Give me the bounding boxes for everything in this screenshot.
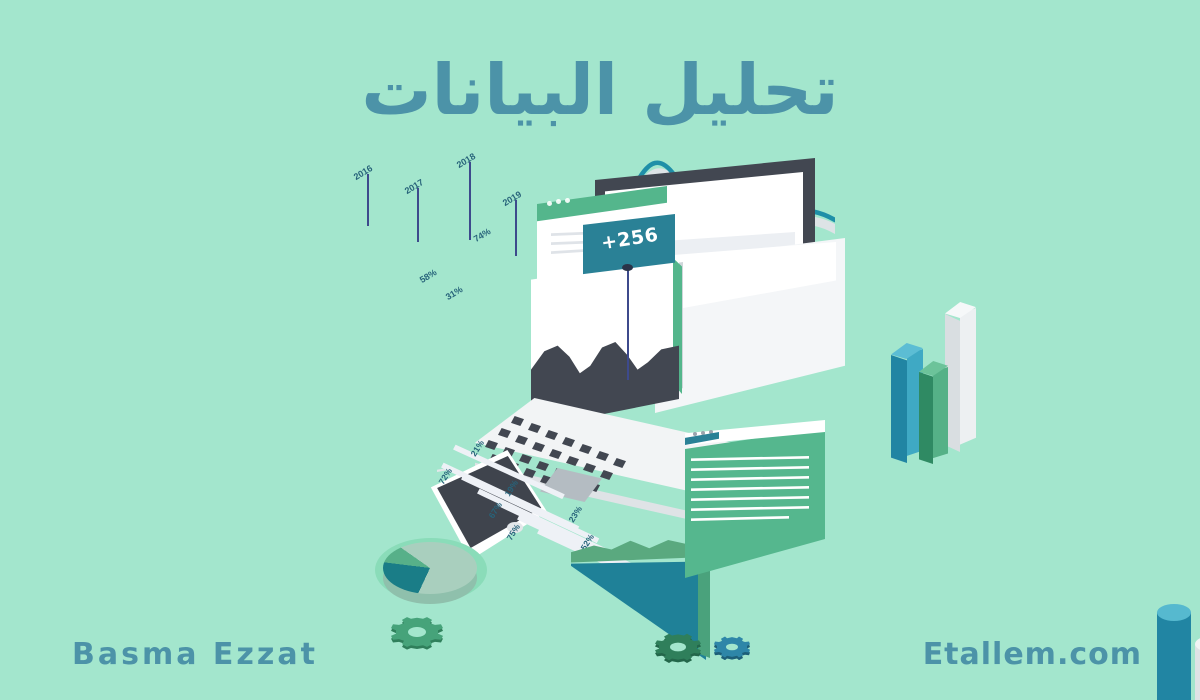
line-chart-tick-2019: 2019 [501,189,523,208]
bar-label-74: 74% [472,226,493,244]
line-chart-tick-2017: 2017 [403,177,425,196]
gear-large-green-icon [387,610,447,655]
gear-icon-svg [651,628,705,664]
line-chart-stem [515,200,517,256]
document-dot-icon [701,431,705,435]
line-chart-stem [417,188,419,242]
gear-small-teal-icon [711,632,753,665]
line-chart-tick-2018: 2018 [455,151,477,170]
gear-icon-svg [387,610,447,650]
document-dot-icon [693,432,697,436]
banner-root: تحليل البيانات 2016 2017 2018 2019 [0,0,1200,700]
browser-dot-icon [556,199,561,204]
tooltip-stem [627,268,629,380]
footer-author: Basma Ezzat [72,637,318,672]
tooltip-anchor-dot [622,264,633,271]
gear-medium-green-icon [651,628,705,669]
laptop-key [536,461,549,471]
footer-site: Etallem.com [923,637,1142,672]
hero-illustration: 2016 2017 2018 2019 74% 58% [355,150,835,560]
document-panel [685,428,825,578]
line-chart-stem [469,162,471,240]
gear-icon-svg [711,632,753,660]
bar-label-31: 31% [444,284,465,302]
browser-dot-icon [547,201,552,206]
page-title: تحليل البيانات [0,52,1200,129]
bar-label-58: 58% [418,267,439,285]
stripe-label-23: 23% [567,504,584,524]
line-chart-tick-2016: 2016 [352,163,374,182]
browser-dot-icon [565,198,570,203]
pie-chart [383,542,477,594]
laptop-key [519,454,532,464]
line-chart-stem [367,174,369,226]
